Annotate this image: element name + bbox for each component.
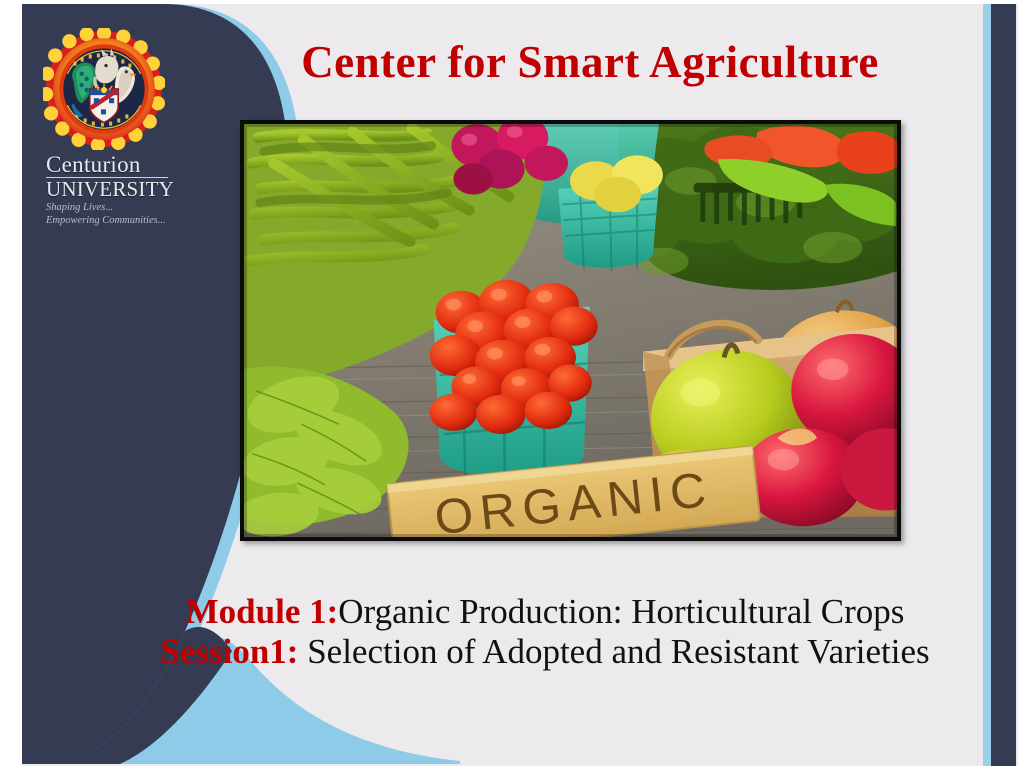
university-name-line2: UNIVERSITY [46, 179, 170, 199]
right-edge-blue-stripe [983, 4, 991, 766]
slide-caption: Module 1:Organic Production: Horticultur… [110, 592, 980, 672]
session-label: Session1: [160, 632, 298, 671]
session-text: Selection of Adopted and Resistant Varie… [298, 632, 929, 671]
organic-produce-market-photo: ORGANIC [240, 120, 901, 541]
centurion-university-crest-icon [43, 28, 165, 150]
university-branding: Centurion UNIVERSITY Shaping Lives... Em… [38, 28, 170, 228]
presentation-slide: Centurion UNIVERSITY Shaping Lives... Em… [0, 0, 1024, 768]
module-label: Module 1: [186, 592, 339, 631]
page-title: Center for Smart Agriculture [210, 36, 970, 88]
produce-illustration: ORGANIC [244, 124, 897, 537]
university-tagline: Shaping Lives... Empowering Communities.… [38, 202, 170, 228]
photo-image: ORGANIC [244, 124, 897, 537]
tagline-line1: Shaping Lives... [46, 202, 170, 215]
university-name-line1: Centurion [46, 154, 168, 178]
module-text: Organic Production: Horticultural Crops [338, 592, 904, 631]
university-wordmark: Centurion UNIVERSITY [38, 154, 170, 199]
caption-line-module: Module 1:Organic Production: Horticultur… [110, 592, 980, 632]
caption-line-session: Session1: Selection of Adopted and Resis… [110, 632, 980, 672]
tagline-line2: Empowering Communities... [46, 215, 170, 228]
right-edge-navy-stripe [991, 4, 1016, 766]
